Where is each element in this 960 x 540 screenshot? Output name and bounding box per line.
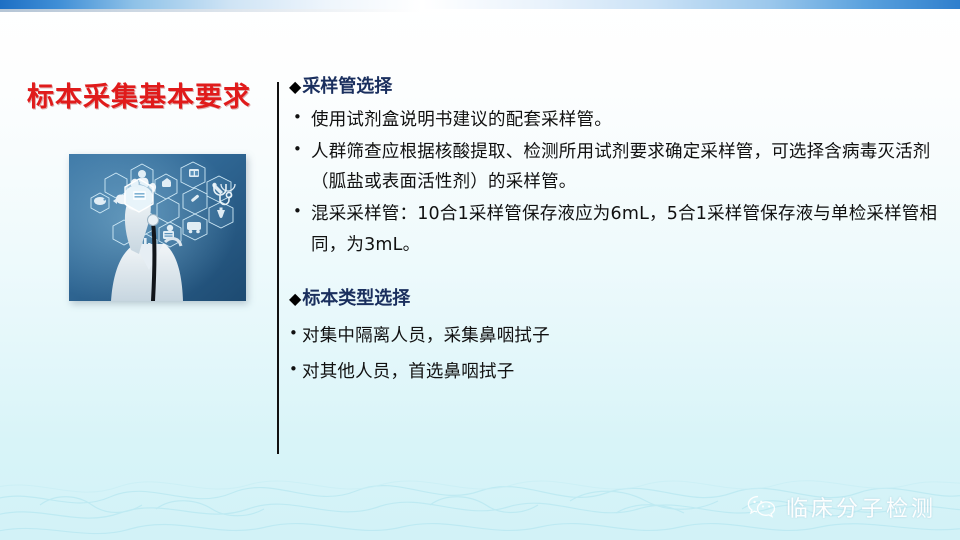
section-heading-specimen-type: ◆标本类型选择 — [289, 286, 939, 311]
section-sampling-tube: ◆采样管选择 使用试剂盒说明书建议的配套采样管。 人群筛查应根据核酸提取、检测所… — [289, 74, 939, 260]
wechat-icon — [747, 494, 777, 520]
list-item: 人群筛查应根据核酸提取、检测所用试剂要求确定采样管，可选择含病毒灭活剂（胍盐或表… — [289, 137, 939, 197]
watermark: 临床分子检测 — [747, 491, 936, 523]
slide-title: 标本采集基本要求 — [0, 82, 278, 114]
section-heading-sampling-tube: ◆采样管选择 — [289, 74, 939, 99]
section-heading-text: 标本类型选择 — [302, 288, 410, 309]
diamond-marker-icon: ◆ — [289, 77, 301, 96]
medical-illustration — [69, 154, 246, 301]
right-content-column: ◆采样管选择 使用试剂盒说明书建议的配套采样管。 人群筛查应根据核酸提取、检测所… — [289, 74, 939, 391]
bullet-list-sampling-tube: 使用试剂盒说明书建议的配套采样管。 人群筛查应根据核酸提取、检测所用试剂要求确定… — [289, 105, 939, 259]
diamond-marker-icon: ◆ — [289, 289, 301, 308]
list-item: 混采采样管：10合1采样管保存液应为6mL，5合1采样管保存液与单检采样管相同，… — [289, 199, 939, 259]
slide-root: 标本采集基本要求 — [0, 0, 960, 540]
bullet-list-specimen-type: 对集中隔离人员，采集鼻咽拭子 对其他人员，首选鼻咽拭子 — [289, 319, 939, 389]
list-item: 对其他人员，首选鼻咽拭子 — [289, 355, 939, 389]
medical-illustration-svg — [69, 154, 246, 301]
section-heading-text: 采样管选择 — [302, 76, 392, 97]
section-specimen-type: ◆标本类型选择 对集中隔离人员，采集鼻咽拭子 对其他人员，首选鼻咽拭子 — [289, 286, 939, 389]
list-item: 使用试剂盒说明书建议的配套采样管。 — [289, 105, 939, 135]
left-column: 标本采集基本要求 — [0, 0, 278, 540]
vertical-divider — [277, 82, 279, 454]
watermark-text: 临床分子检测 — [786, 491, 936, 523]
list-item: 对集中隔离人员，采集鼻咽拭子 — [289, 319, 939, 353]
